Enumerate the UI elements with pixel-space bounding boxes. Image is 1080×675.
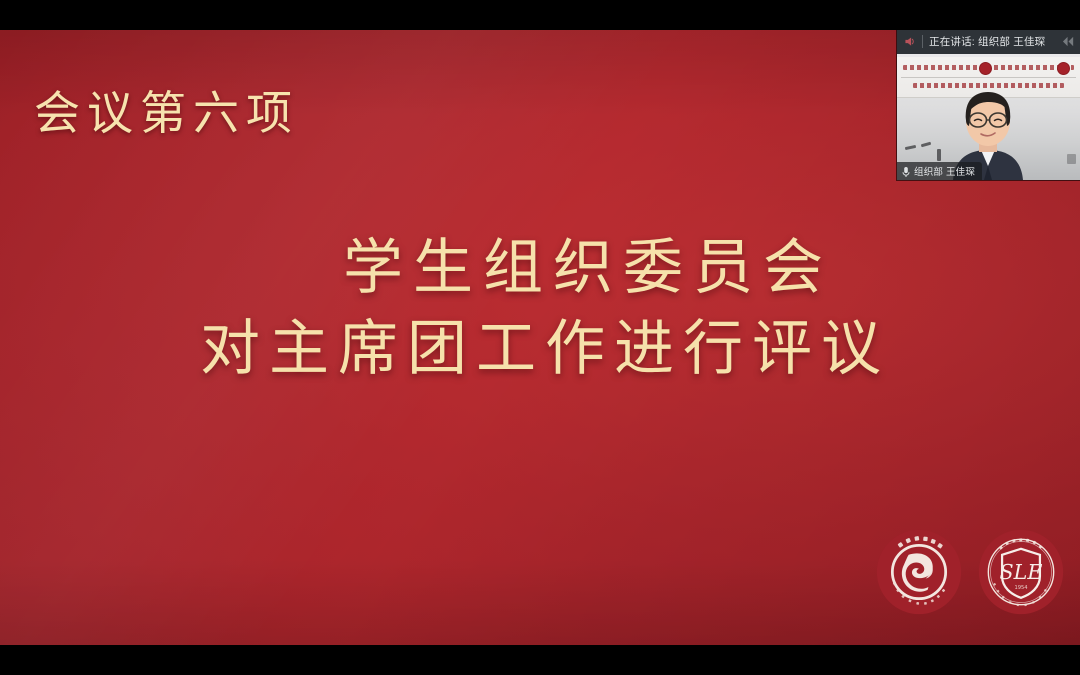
- speaker-video-header[interactable]: 正在讲话: 组织部 王佳琛: [897, 28, 1080, 54]
- speaker-icon: [903, 35, 916, 48]
- speaking-now-label: 正在讲话: 组织部 王佳琛: [929, 34, 1055, 49]
- slide-logos: SLE 1954: [876, 529, 1064, 615]
- participant-name-badge: 组织部 王佳琛: [897, 162, 982, 180]
- letterbox-bottom: [0, 645, 1080, 675]
- school-emblem-logo: SLE 1954: [978, 529, 1064, 615]
- svg-text:1954: 1954: [1014, 585, 1027, 591]
- screen: 会议第六项 学生组织委员会 对主席团工作进行评议: [0, 0, 1080, 675]
- speaker-video-panel[interactable]: 正在讲话: 组织部 王佳琛: [897, 28, 1080, 180]
- speaker-video-feed[interactable]: 组织部 王佳琛: [897, 54, 1080, 180]
- slide-headline-line-1: 学生组织委员会: [0, 228, 1080, 309]
- microphone-icon: [901, 165, 911, 177]
- svg-text:SLE: SLE: [1000, 560, 1043, 584]
- slide-headline: 学生组织委员会 对主席团工作进行评议: [0, 228, 1080, 390]
- slide-headline-line-2: 对主席团工作进行评议: [0, 309, 1080, 390]
- header-divider: [922, 35, 923, 48]
- chevron-icon[interactable]: [1061, 35, 1076, 48]
- university-emblem-logo: [876, 529, 962, 615]
- letterbox-top: [0, 0, 1080, 30]
- participant-name: 组织部 王佳琛: [914, 164, 975, 178]
- slide-kicker: 会议第六项: [34, 88, 299, 139]
